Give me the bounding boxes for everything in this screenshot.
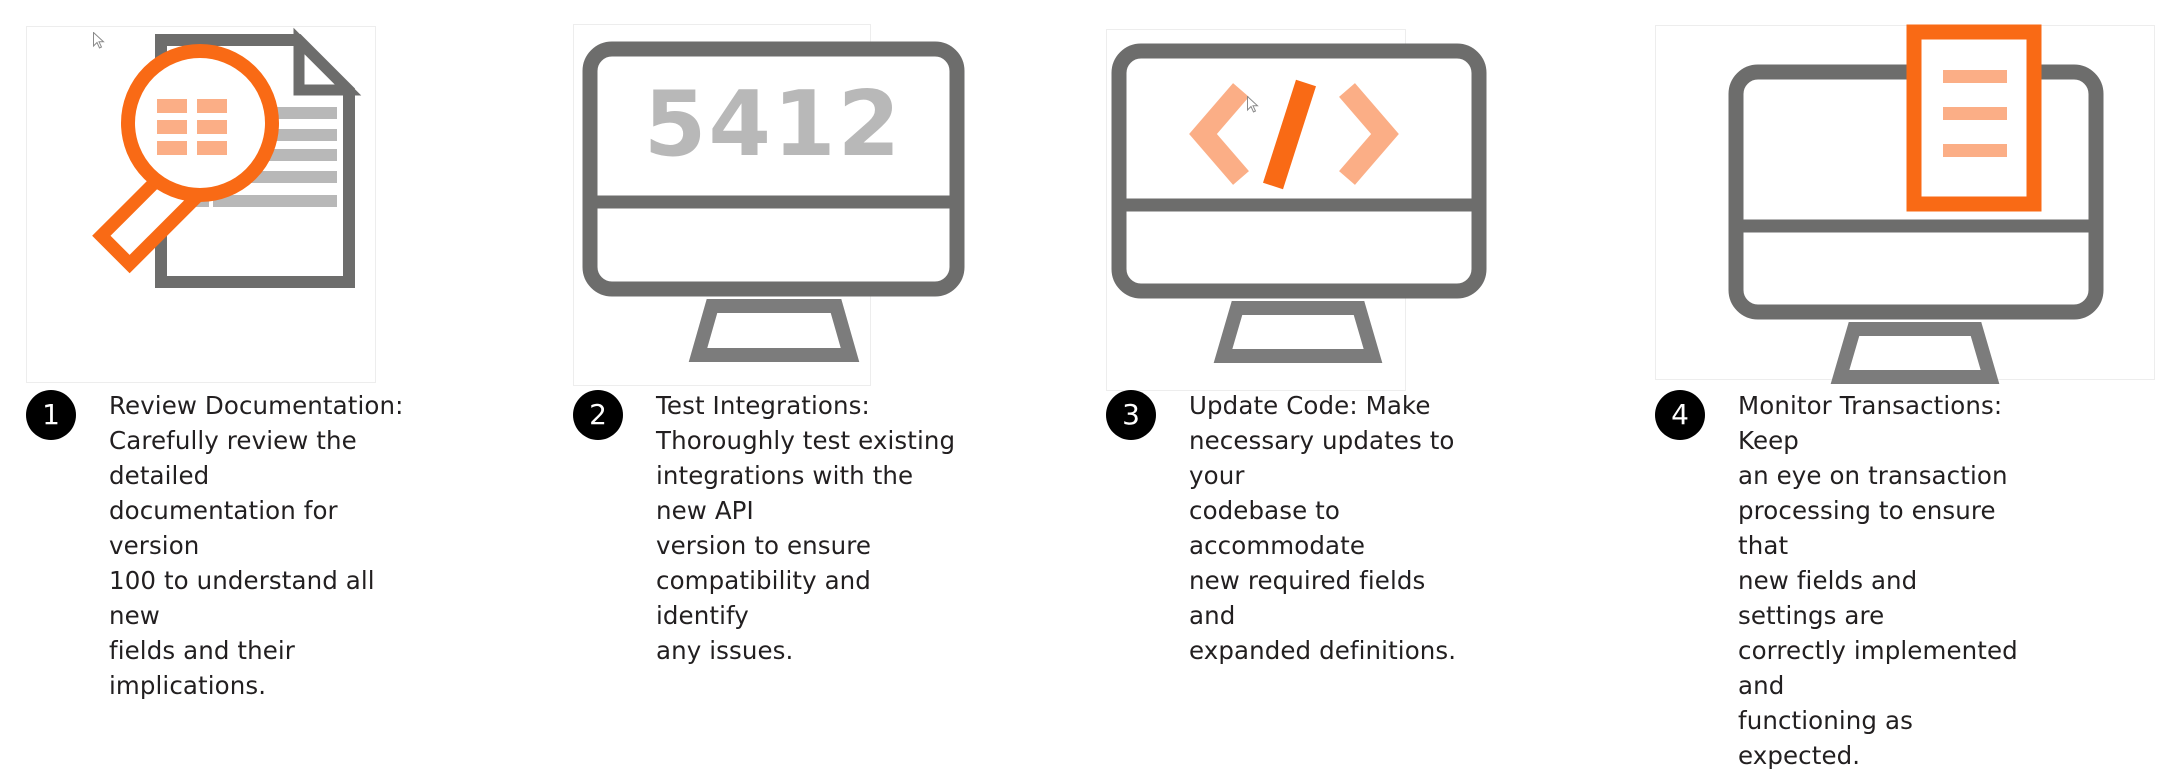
illustration-frame-3 bbox=[1106, 29, 1406, 391]
monitor-stand bbox=[1840, 329, 1990, 377]
lens-cell bbox=[197, 120, 227, 134]
page-line bbox=[289, 107, 337, 119]
page-fold bbox=[299, 41, 348, 90]
step-number-badge-1: 1 bbox=[26, 390, 76, 440]
document-line bbox=[1943, 70, 2007, 83]
lens-cell bbox=[157, 120, 187, 134]
step-card-4: 4 Monitor Transactions: Keep an eye on t… bbox=[1655, 0, 2155, 637]
document-line bbox=[1943, 107, 2007, 120]
lens-cell bbox=[197, 99, 227, 113]
document-line bbox=[1943, 144, 2007, 157]
step-number-badge-3: 3 bbox=[1106, 390, 1156, 440]
steps-infographic: 1 Review Documentation: Carefully review… bbox=[0, 0, 2180, 637]
monitor-code-icon bbox=[1107, 30, 1407, 392]
step-caption-2: 2 Test Integrations: Thoroughly test exi… bbox=[573, 388, 1073, 668]
step-caption-4: 4 Monitor Transactions: Keep an eye on t… bbox=[1655, 388, 2155, 773]
lens-cell bbox=[157, 99, 187, 113]
document-magnifier-icon bbox=[27, 27, 377, 384]
step-number-badge-2: 2 bbox=[573, 390, 623, 440]
step-caption-3: 3 Update Code: Make necessary updates to… bbox=[1106, 388, 1606, 668]
illustration-frame-4 bbox=[1655, 25, 2155, 380]
step-card-1: 1 Review Documentation: Carefully review… bbox=[26, 0, 526, 637]
page-line bbox=[213, 195, 337, 207]
illustration-frame-1 bbox=[26, 26, 376, 383]
lens-cell bbox=[157, 141, 187, 155]
lens-cell bbox=[197, 141, 227, 155]
monitor-stand bbox=[1223, 308, 1373, 356]
monitor-document-icon bbox=[1656, 26, 2156, 381]
step-description-2: Test Integrations: Thoroughly test exist… bbox=[656, 388, 966, 668]
step-card-2: 5412 2 Test Integrations: Thoroughly tes… bbox=[573, 0, 1073, 637]
step-card-3: 3 Update Code: Make necessary updates to… bbox=[1106, 0, 1606, 637]
step-number-badge-4: 4 bbox=[1655, 390, 1705, 440]
illustration-frame-2: 5412 bbox=[573, 24, 871, 386]
monitor-number-icon: 5412 bbox=[574, 25, 872, 387]
step-description-4: Monitor Transactions: Keep an eye on tra… bbox=[1738, 388, 2023, 773]
step-caption-1: 1 Review Documentation: Carefully review… bbox=[26, 388, 526, 703]
page-line bbox=[289, 149, 337, 161]
step-description-3: Update Code: Make necessary updates to y… bbox=[1189, 388, 1479, 668]
screen-number: 5412 bbox=[644, 72, 903, 177]
page-line bbox=[289, 129, 337, 141]
monitor-stand bbox=[698, 306, 850, 355]
step-description-1: Review Documentation: Carefully review t… bbox=[109, 388, 409, 703]
